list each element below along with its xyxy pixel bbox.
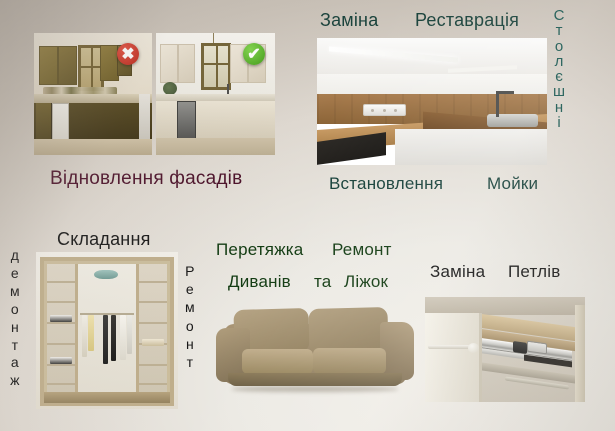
- vert-letter: С: [554, 8, 565, 23]
- sofa-base: [228, 373, 402, 387]
- label-countertops-vertical: С т о л є ш н і: [553, 8, 565, 130]
- sofa-shadow: [232, 386, 398, 391]
- vert-letter: д: [11, 247, 19, 265]
- label-vstanovlennya: Встановлення: [329, 174, 443, 194]
- countertop: [156, 94, 275, 101]
- label-demontazh-vertical: д е м о н т а ж: [10, 247, 20, 390]
- vert-letter: а: [11, 354, 19, 372]
- check-icon: ✔: [247, 44, 260, 64]
- vert-letter: о: [186, 317, 194, 335]
- vert-letter: т: [556, 23, 563, 38]
- wardrobe-scene: [36, 252, 178, 409]
- cross-icon: ✖: [121, 44, 134, 64]
- label-peretyazhka: Перетяжка: [216, 240, 303, 260]
- shelf: [139, 301, 167, 303]
- folded-clothes: [142, 339, 165, 346]
- seat-cushion: [242, 349, 313, 374]
- caption-facade-renovation: Відновлення фасадів: [50, 168, 242, 190]
- hanging-garment: [82, 315, 87, 357]
- vert-letter: т: [187, 353, 193, 371]
- vert-letter: н: [555, 100, 563, 115]
- upper-cabinet: [178, 44, 195, 83]
- vert-letter: е: [11, 265, 19, 283]
- fridge: [139, 94, 150, 140]
- dishwasher: [177, 101, 196, 141]
- upper-cabinet: [39, 46, 59, 85]
- window: [201, 43, 231, 90]
- check-badge: ✔: [243, 43, 265, 65]
- shelf: [139, 322, 167, 324]
- floor: [34, 139, 152, 155]
- hanging-garment: [111, 315, 116, 361]
- label-zamina-hinges: Заміна: [430, 262, 485, 282]
- shelf: [47, 364, 75, 366]
- shelf: [139, 383, 167, 385]
- drawer-slide-scene: [425, 297, 585, 402]
- socket-hole: [394, 109, 397, 112]
- shelf: [47, 343, 75, 345]
- divider: [136, 264, 139, 399]
- label-zamina-countertop: Заміна: [320, 10, 378, 31]
- label-skladannya: Складання: [57, 229, 151, 250]
- sofa-photo: [216, 297, 414, 401]
- divider: [75, 264, 78, 399]
- label-remont-wardrobe-vertical: Р е м о н т: [185, 262, 195, 371]
- label-dyvaniv: Диванів: [228, 272, 291, 292]
- hanging-garment: [88, 315, 93, 351]
- wardrobe-photo: [36, 252, 178, 409]
- vert-letter: о: [555, 39, 563, 54]
- upper-cabinet: [58, 46, 78, 85]
- label-lizhok: Ліжок: [344, 272, 388, 292]
- drawer-knob: [468, 343, 479, 352]
- upper-cabinet: [160, 44, 179, 83]
- wardrobe-carcass: [40, 257, 174, 406]
- countertop-photo: [317, 38, 547, 165]
- sofa-scene: [216, 297, 414, 401]
- shelf: [139, 364, 167, 366]
- vert-letter: о: [11, 301, 19, 319]
- vert-letter: є: [555, 69, 563, 84]
- folded-clothes: [50, 315, 73, 322]
- vert-letter: т: [12, 337, 18, 355]
- label-petliv: Петлів: [508, 262, 560, 282]
- countertop-scene: [317, 38, 547, 165]
- shelf: [47, 383, 75, 385]
- shelf: [139, 281, 167, 283]
- cabinet-side: [575, 305, 585, 402]
- folded-clothes: [50, 357, 73, 364]
- vert-letter: м: [10, 283, 20, 301]
- vert-letter: Р: [185, 262, 194, 280]
- upper-cabinet: [100, 45, 119, 81]
- lower-cabinets: [395, 129, 547, 165]
- shelf: [47, 322, 75, 324]
- vert-letter: і: [557, 115, 560, 130]
- hanging-garment: [120, 315, 125, 360]
- vert-letter: ш: [553, 84, 565, 99]
- service-collage-poster: ✖ ✔ Відновлення фасадів Заміна Реставрац…: [0, 0, 615, 431]
- drawer-handle: [428, 345, 470, 349]
- shelf: [47, 281, 75, 283]
- hat-box: [94, 270, 118, 279]
- drawer-stack: [36, 103, 51, 140]
- vert-letter: е: [186, 280, 194, 298]
- vert-letter: н: [11, 319, 19, 337]
- slide-clip: [513, 341, 527, 354]
- power-socket: [363, 104, 406, 116]
- cross-badge: ✖: [117, 43, 139, 65]
- drawer-slide-photo: [425, 297, 585, 402]
- shelf: [47, 301, 75, 303]
- label-restavraciya: Реставрація: [415, 10, 519, 31]
- vert-letter: м: [185, 298, 195, 316]
- plinth: [44, 392, 170, 402]
- floor: [156, 138, 275, 155]
- label-ta: та: [314, 272, 331, 292]
- label-remont-sofa: Ремонт: [332, 240, 392, 260]
- socket-hole: [371, 109, 374, 112]
- vert-letter: н: [186, 335, 194, 353]
- hanging-garment: [127, 315, 132, 354]
- stove: [52, 103, 69, 143]
- hanging-garment: [103, 315, 108, 364]
- countertop: [34, 94, 152, 103]
- socket-hole: [383, 109, 386, 112]
- base-cabinets: [156, 101, 275, 138]
- drawer-front: [425, 313, 482, 402]
- faucet-icon: [496, 91, 499, 116]
- vert-letter: ж: [10, 372, 19, 390]
- seat-cushion: [313, 348, 386, 374]
- label-moyki: Мойки: [487, 174, 538, 194]
- vert-letter: л: [555, 54, 564, 69]
